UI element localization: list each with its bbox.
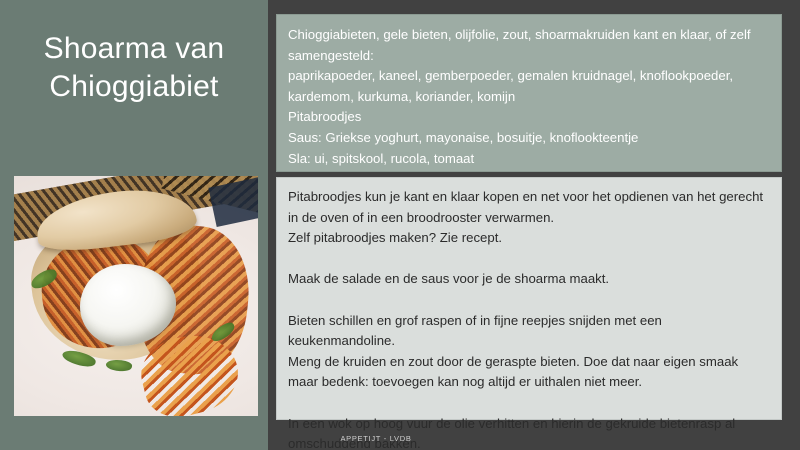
ingredients-text: Chioggiabieten, gele bieten, olijfolie, … bbox=[288, 25, 770, 169]
title-block: Shoarma van Chioggiabiet bbox=[0, 30, 268, 105]
title-panel: Shoarma van Chioggiabiet bbox=[0, 0, 268, 450]
rocket-leaf-icon bbox=[105, 358, 132, 373]
dish-photo-image bbox=[14, 176, 258, 416]
dish-photo bbox=[14, 176, 258, 416]
ingredients-panel: Chioggiabieten, gele bieten, olijfolie, … bbox=[276, 14, 782, 172]
footer-attribution: APPETIJT - LVDB bbox=[340, 434, 411, 443]
instructions-panel: Pitabroodjes kun je kant en klaar kopen … bbox=[276, 177, 782, 420]
slide-footer: APPETIJT - LVDB bbox=[276, 428, 476, 446]
page-title: Shoarma van Chioggiabiet bbox=[24, 30, 244, 105]
instructions-text: Pitabroodjes kun je kant en klaar kopen … bbox=[288, 187, 770, 450]
presentation-slide: Shoarma van Chioggiabiet Chioggiabiete bbox=[0, 0, 800, 450]
